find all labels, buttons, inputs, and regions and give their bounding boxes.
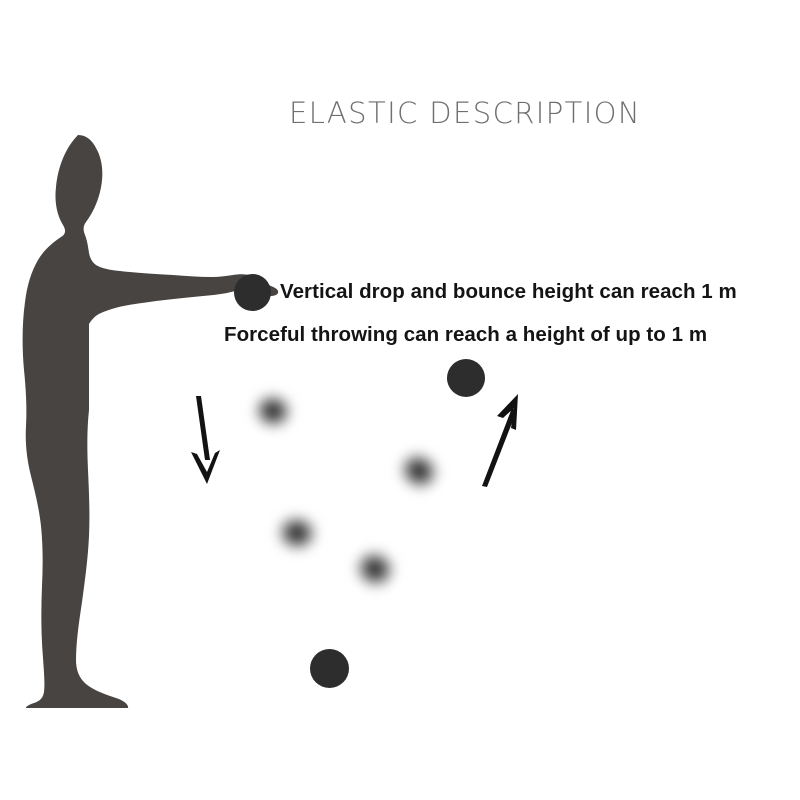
caption-vertical-drop: Vertical drop and bounce height can reac… bbox=[280, 280, 737, 304]
caption-forceful-throwing: Forceful throwing can reach a height of … bbox=[224, 323, 707, 347]
downward-drop-arrow bbox=[182, 392, 242, 492]
ball-at-hand bbox=[234, 274, 271, 311]
upward-bounce-arrow bbox=[470, 390, 540, 490]
ball-rising-lower bbox=[340, 528, 411, 610]
ball-rising-upper bbox=[382, 431, 457, 512]
ball-at-ground bbox=[310, 649, 349, 688]
illustration-canvas: ELASTIC DESCRIPTION Vertical drop and bo… bbox=[0, 0, 800, 800]
